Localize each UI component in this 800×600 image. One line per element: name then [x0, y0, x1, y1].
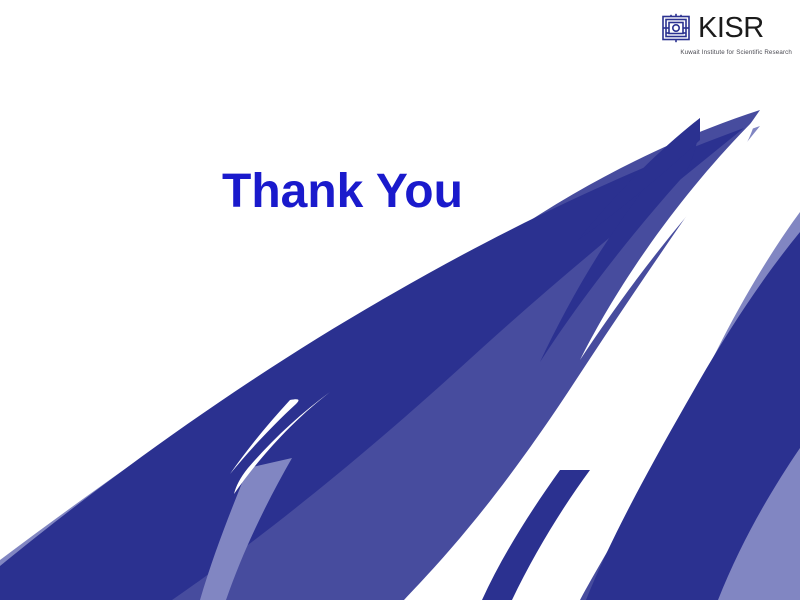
kisr-tagline: Kuwait Institute for Scientific Research — [660, 49, 792, 56]
page-title: Thank You — [222, 166, 463, 219]
kisr-logo-row: KISR — [660, 10, 764, 46]
kisr-emblem-icon — [660, 12, 692, 44]
blue-swoosh-graphic — [0, 0, 800, 600]
kisr-logo: KISR Kuwait Institute for Scientific Res… — [660, 10, 792, 62]
kisr-wordmark: KISR — [698, 14, 764, 43]
slide-canvas: KISR Kuwait Institute for Scientific Res… — [0, 0, 800, 600]
